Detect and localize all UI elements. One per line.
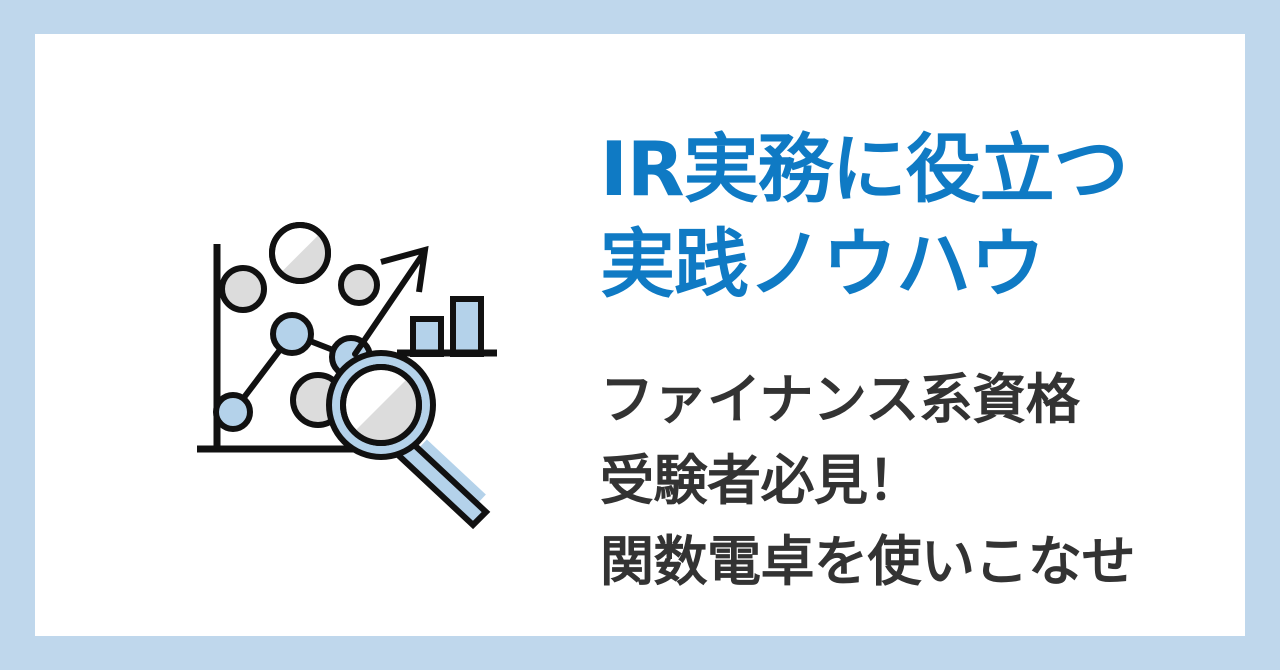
subhead-line-1: ファイナンス系資格 xyxy=(600,359,1260,440)
gray-bubble-left xyxy=(222,268,264,310)
banner-root: IR実務に役立つ 実践ノウハウ ファイナンス系資格 受験者必見！ 関数電卓を使い… xyxy=(0,0,1280,670)
data-analysis-illustration xyxy=(165,194,525,554)
headline-line-1: IR実務に役立つ xyxy=(600,122,1260,217)
bar-chart-icon xyxy=(397,299,497,354)
subhead-line-2: 受験者必見！ xyxy=(600,440,1260,521)
headline-line-2: 実践ノウハウ xyxy=(600,217,1260,312)
illustration-svg xyxy=(165,194,525,554)
content-card: IR実務に役立つ 実践ノウハウ ファイナンス系資格 受験者必見！ 関数電卓を使い… xyxy=(35,34,1245,636)
gray-bubble-large xyxy=(272,225,329,281)
text-block: IR実務に役立つ 実践ノウハウ ファイナンス系資格 受験者必見！ 関数電卓を使い… xyxy=(600,122,1260,602)
subhead-line-3: 関数電卓を使いこなせ xyxy=(600,521,1260,602)
page-title: IR実務に役立つ 実践ノウハウ xyxy=(600,122,1260,311)
page-subtitle: ファイナンス系資格 受験者必見！ 関数電卓を使いこなせ xyxy=(600,311,1260,602)
gray-bubble-right xyxy=(341,267,377,303)
magnifier-icon xyxy=(329,353,486,525)
